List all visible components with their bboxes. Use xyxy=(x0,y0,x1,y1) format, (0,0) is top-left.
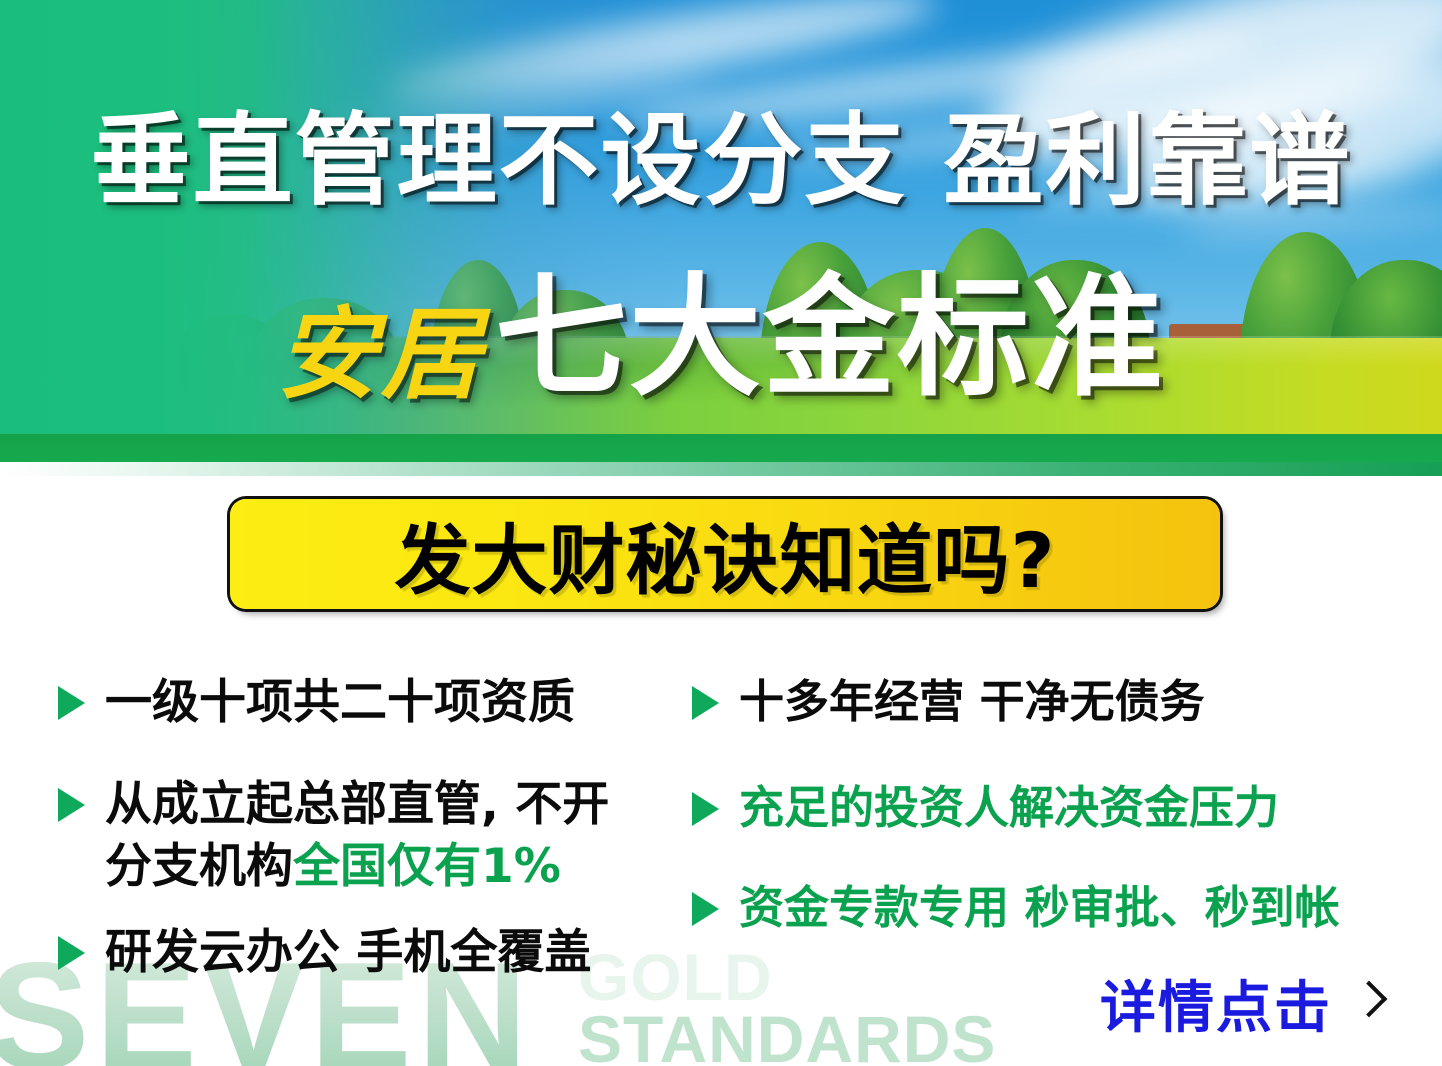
list-item-label: 资金专款专用 秒审批、秒到帐 xyxy=(739,878,1340,937)
list-item: 从成立起总部直管, 不开 分支机构全国仅有1% xyxy=(58,774,609,898)
list-item-line-1: 从成立起总部直管, 不开 xyxy=(105,777,609,832)
triangle-bullet-icon xyxy=(692,686,719,720)
hero-section: 垂直管理不设分支 盈利靠谱 安居七大金标准 xyxy=(0,0,1442,462)
hero-subline: 安居七大金标准 xyxy=(0,272,1442,405)
chevron-right-icon xyxy=(1354,979,1380,1025)
hero-text-group: 垂直管理不设分支 盈利靠谱 安居七大金标准 xyxy=(0,0,1442,462)
hero-headline: 垂直管理不设分支 盈利靠谱 xyxy=(0,106,1442,216)
hero-brand-name: 安居 xyxy=(277,305,485,405)
triangle-bullet-icon xyxy=(58,936,85,970)
list-item-label: 研发云办公 手机全覆盖 xyxy=(105,922,591,984)
list-item-line-2-plain: 分支机构 xyxy=(105,839,293,894)
detail-link-label: 详情点击 xyxy=(1100,963,1332,1044)
feature-columns: 一级十项共二十项资质 从成立起总部直管, 不开 分支机构全国仅有1% 研发云办公… xyxy=(0,662,1442,992)
detail-link-button[interactable]: 详情点击 xyxy=(1100,963,1380,1044)
list-item-line-2-highlight: 全国仅有1% xyxy=(293,839,561,894)
list-item-label: 十多年经营 干净无债务 xyxy=(739,672,1205,731)
watermark-standards: STANDARDS xyxy=(578,1006,996,1066)
list-item: 资金专款专用 秒审批、秒到帐 xyxy=(692,878,1340,937)
list-item: 研发云办公 手机全覆盖 xyxy=(58,922,591,984)
list-item: 十多年经营 干净无债务 xyxy=(692,672,1205,731)
triangle-bullet-icon xyxy=(58,788,85,822)
hero-divider-strip xyxy=(0,462,1442,476)
triangle-bullet-icon xyxy=(692,792,719,826)
list-item-label: 充足的投资人解决资金压力 xyxy=(739,778,1279,837)
headline-banner[interactable]: 发大财秘诀知道吗? xyxy=(230,499,1220,609)
list-item-label: 一级十项共二十项资质 xyxy=(105,672,575,734)
list-item-label: 从成立起总部直管, 不开 分支机构全国仅有1% xyxy=(105,774,609,898)
triangle-bullet-icon xyxy=(692,892,719,926)
list-item: 充足的投资人解决资金压力 xyxy=(692,778,1279,837)
list-item: 一级十项共二十项资质 xyxy=(58,672,575,734)
headline-banner-text: 发大财秘诀知道吗? xyxy=(394,499,1055,609)
hero-sub-title: 七大金标准 xyxy=(495,272,1165,404)
promo-banner-page: 垂直管理不设分支 盈利靠谱 安居七大金标准 发大财秘诀知道吗? SEVEN GO… xyxy=(0,0,1442,1066)
triangle-bullet-icon xyxy=(58,686,85,720)
